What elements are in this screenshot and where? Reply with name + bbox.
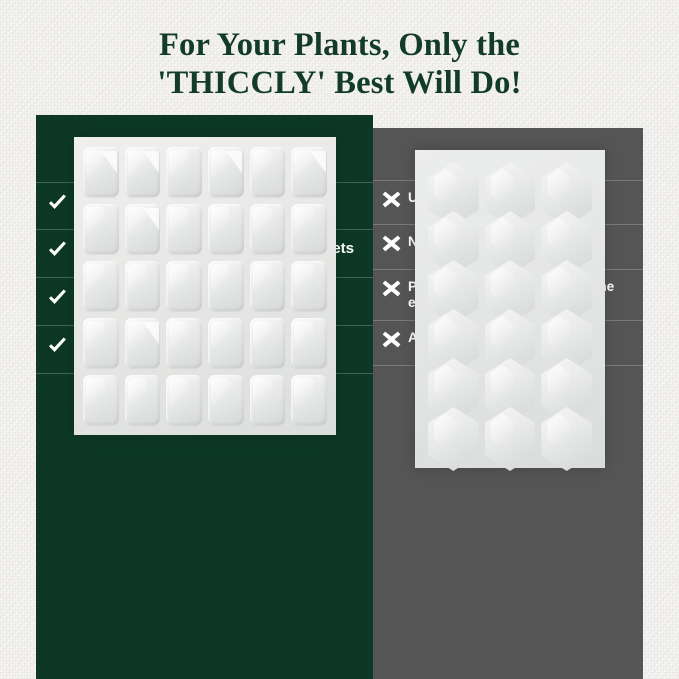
headline-line-1: For Your Plants, Only the	[159, 27, 520, 63]
headline-line-2: 'THICCLY' Best Will Do!	[0, 64, 679, 102]
honeycomb-row	[425, 407, 595, 471]
tray-cell	[291, 261, 327, 311]
tray-cell	[291, 375, 327, 425]
tray-cell	[125, 261, 161, 311]
cross-icon	[382, 235, 401, 257]
tray-cell	[250, 375, 286, 425]
cross-icon	[382, 331, 401, 353]
tray-cell	[83, 147, 119, 197]
hexagon-cell	[541, 407, 592, 471]
tray-cell	[291, 204, 327, 254]
cross-icon	[382, 191, 401, 213]
tray-cell	[83, 204, 119, 254]
rectangular-cell-grid	[83, 147, 327, 425]
other-product-image	[415, 150, 605, 468]
check-icon	[47, 241, 68, 264]
tray-cell	[125, 147, 161, 197]
tray-cell	[83, 375, 119, 425]
cross-icon	[382, 280, 401, 302]
check-icon	[47, 337, 68, 360]
tray-cell	[208, 318, 244, 368]
tray-cell	[166, 375, 202, 425]
hexagon-cell	[428, 407, 479, 471]
tray-cell	[125, 204, 161, 254]
ours-column: OURS Food grade PET recyclable plastic N…	[36, 115, 373, 679]
hexagon-cell	[485, 407, 536, 471]
tray-cell	[166, 261, 202, 311]
tray-cell	[166, 204, 202, 254]
tray-cell	[250, 147, 286, 197]
page-headline: For Your Plants, Only the 'THICCLY' Best…	[0, 26, 679, 102]
tray-cell	[291, 318, 327, 368]
tray-cell	[208, 375, 244, 425]
tray-cell	[83, 261, 119, 311]
tray-cell	[250, 261, 286, 311]
tray-cell	[83, 318, 119, 368]
tray-cell	[291, 147, 327, 197]
ours-product-image	[74, 137, 336, 435]
tray-cell	[125, 318, 161, 368]
check-icon	[47, 194, 68, 217]
tray-cell	[208, 261, 244, 311]
tray-cell	[208, 147, 244, 197]
tray-cell	[125, 375, 161, 425]
tray-cell	[166, 318, 202, 368]
tray-cell	[250, 204, 286, 254]
check-icon	[47, 289, 68, 312]
other-brands-column: Other Brands Unknown Plastic material No…	[373, 128, 643, 679]
tray-cell	[166, 147, 202, 197]
tray-cell	[250, 318, 286, 368]
tray-cell	[208, 204, 244, 254]
